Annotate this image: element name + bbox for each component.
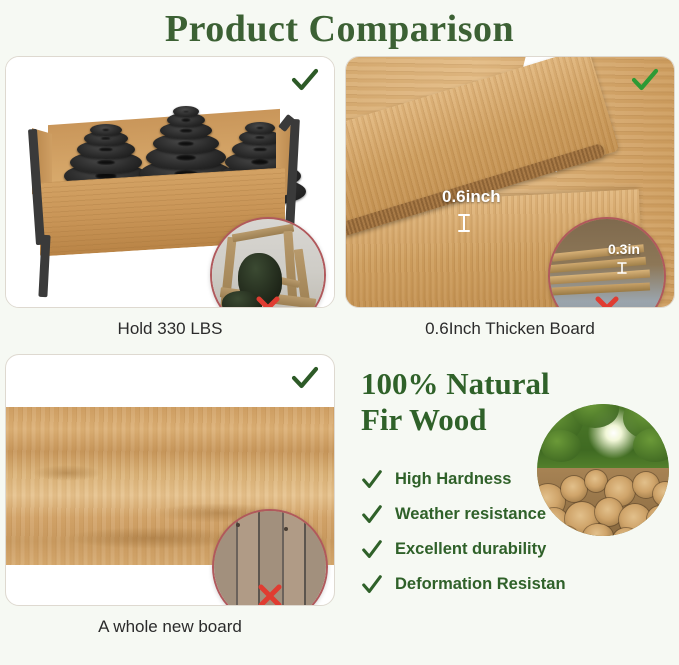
feature-item-label: Excellent durability <box>395 540 546 559</box>
panel-thicken-board: 0.6inch 0.3in <box>345 56 675 348</box>
check-icon <box>361 539 383 561</box>
feature-item-label: Deformation Resistan <box>395 575 566 594</box>
inset-bad-example-1 <box>210 217 326 308</box>
feature-item-label: Weather resistance <box>395 505 546 524</box>
feature-item-deformation-resistan: Deformation Resistan <box>361 567 675 602</box>
page-title: Product Comparison <box>0 0 679 54</box>
panel-hold-330-lbs: Hold 330 LBS <box>5 56 335 348</box>
check-icon <box>361 574 383 596</box>
feature-item-label: High Hardness <box>395 470 511 489</box>
measure-ibeam-icon <box>456 213 472 233</box>
x-icon <box>255 295 281 308</box>
feature-item-excellent-durability: Excellent durability <box>361 532 675 567</box>
check-icon <box>290 363 320 393</box>
panel-caption: 0.6Inch Thicken Board <box>345 319 675 339</box>
panel-image-hold-330-lbs <box>5 56 335 308</box>
dimension-label-bad: 0.3in <box>608 241 640 257</box>
check-icon <box>290 65 320 95</box>
panel-caption: Hold 330 LBS <box>5 319 335 339</box>
panel-natural-fir-wood: 100% Natural Fir Wood High Hardness Weat… <box>345 354 675 646</box>
panel-image-whole-new-board <box>5 354 335 606</box>
feature-heading-line1: 100% Natural <box>361 366 576 402</box>
check-icon <box>630 65 660 95</box>
x-icon <box>594 295 620 308</box>
check-icon <box>361 504 383 526</box>
inset-bad-example-3 <box>212 509 328 606</box>
inset-bad-example-2: 0.3in <box>548 217 666 308</box>
x-icon <box>257 583 283 606</box>
panel-image-thicken-board: 0.6inch 0.3in <box>345 56 675 308</box>
panel-whole-new-board: A whole new board <box>5 354 335 646</box>
panel-caption: A whole new board <box>5 617 335 637</box>
check-icon <box>361 469 383 491</box>
feature-block: 100% Natural Fir Wood High Hardness Weat… <box>345 354 675 646</box>
dimension-label-good: 0.6inch <box>442 187 501 207</box>
planter-leg-left-lower <box>38 235 50 297</box>
comparison-grid: Hold 330 LBS 0.6inch <box>0 54 679 665</box>
measure-ibeam-icon <box>616 261 628 275</box>
log-pile <box>537 468 669 536</box>
forest-logs-photo <box>537 404 669 536</box>
